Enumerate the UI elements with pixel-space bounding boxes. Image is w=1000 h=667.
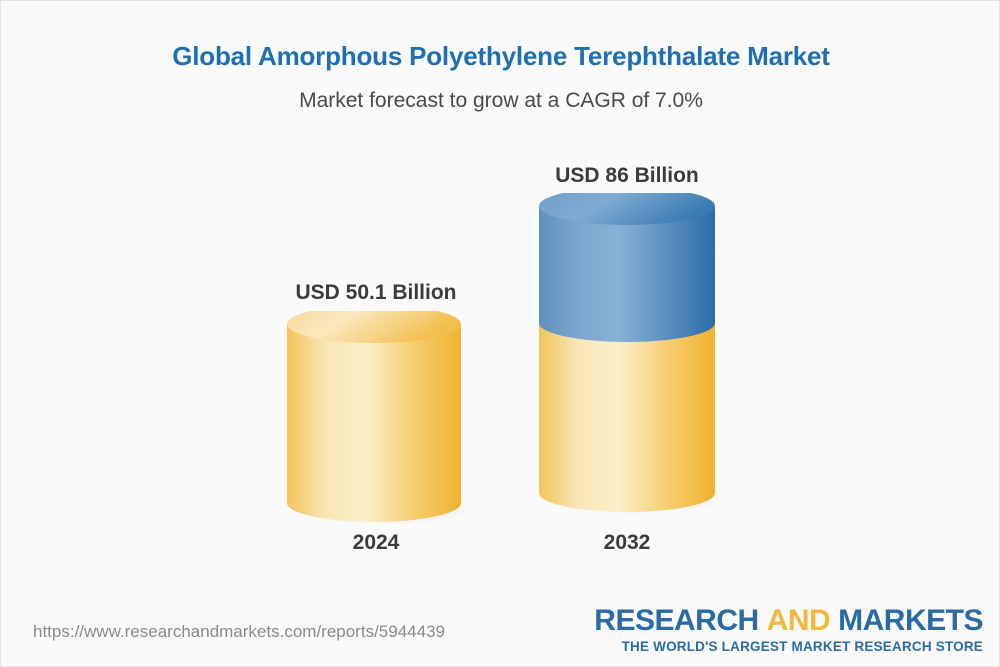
logo-word-research: RESEARCH — [594, 604, 758, 637]
source-url[interactable]: https://www.researchandmarkets.com/repor… — [33, 622, 445, 642]
plot-area: USD 50.1 Billion — [1, 1, 1000, 601]
logo-word-markets: MARKETS — [838, 604, 983, 637]
value-label-2024: USD 50.1 Billion — [226, 281, 526, 305]
category-label-2032: 2032 — [477, 531, 777, 555]
bar-cylinder-2024 — [282, 311, 492, 541]
value-label-2032: USD 86 Billion — [477, 164, 777, 188]
logo-tagline: THE WORLD'S LARGEST MARKET RESEARCH STOR… — [594, 639, 983, 654]
logo-wordmark: RESEARCHANDMARKETS — [594, 605, 983, 637]
logo-word-and: AND — [767, 604, 831, 637]
footer: https://www.researchandmarkets.com/repor… — [1, 600, 1000, 666]
chart-canvas: Global Amorphous Polyethylene Terephthal… — [0, 0, 1000, 667]
brand-logo: RESEARCHANDMARKETS THE WORLD'S LARGEST M… — [594, 605, 983, 654]
bar-cylinder-2032 — [529, 193, 744, 523]
